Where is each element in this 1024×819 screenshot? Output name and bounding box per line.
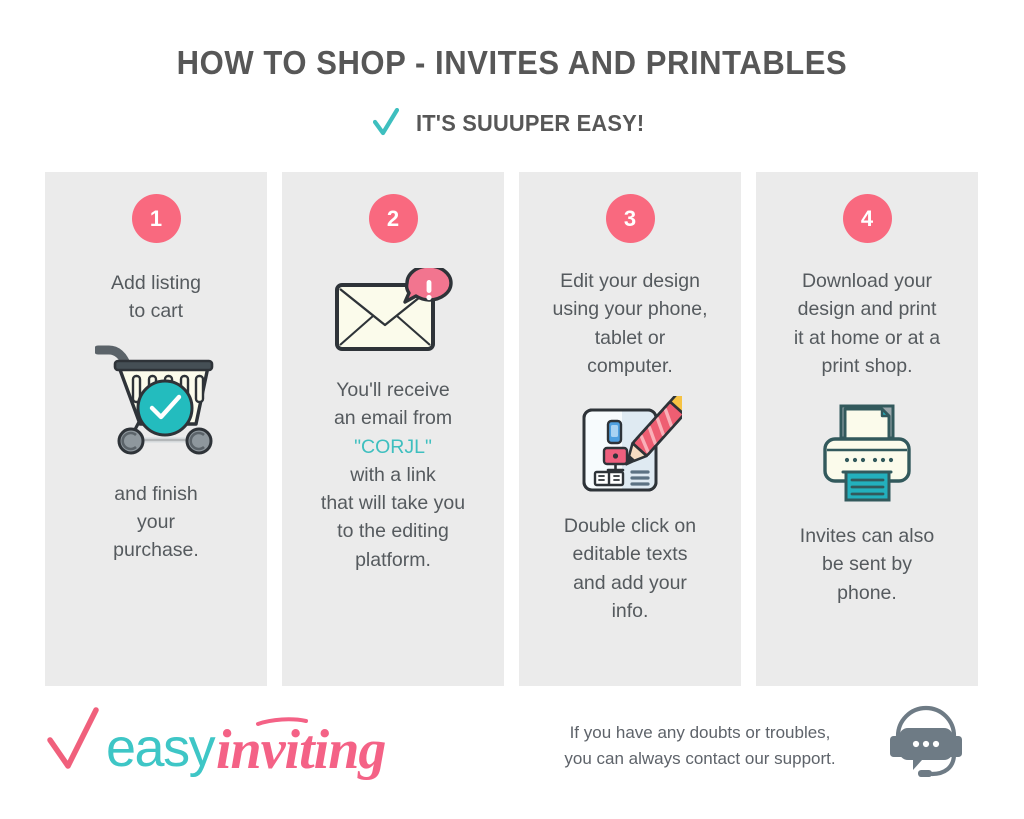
headset-support-icon — [886, 702, 966, 782]
shopping-cart-check-icon — [95, 342, 217, 458]
subtitle-text: IT'S SUUUPER EASY! — [416, 110, 644, 137]
step-number-badge-3: 3 — [606, 194, 655, 243]
step-panel-4: 4 Download your design and print it at h… — [756, 172, 978, 686]
step-4-text-top: Download your design and print it at hom… — [772, 267, 962, 380]
step-1-text-bottom: and finish your purchase. — [61, 480, 251, 565]
step-2-text-bottom: You'll receive an email from "CORJL" wit… — [298, 376, 488, 574]
brand-logo[interactable]: easy inviting — [44, 704, 394, 789]
edit-document-pencil-icon — [578, 396, 682, 496]
header: HOW TO SHOP - INVITES AND PRINTABLES IT'… — [0, 0, 1024, 160]
footer: easy inviting If you have any doubts or … — [0, 690, 1024, 819]
envelope-notification-icon — [333, 268, 453, 354]
step-number-badge-4: 4 — [843, 194, 892, 243]
steps-container: 1 Add listing to cart — [45, 172, 980, 686]
page-title: HOW TO SHOP - INVITES AND PRINTABLES — [31, 44, 994, 82]
step-number-badge-1: 1 — [132, 194, 181, 243]
step-3-text-bottom: Double click on editable texts and add y… — [535, 512, 725, 625]
step-panel-1: 1 Add listing to cart — [45, 172, 267, 686]
step-1-text-top: Add listing to cart — [61, 269, 251, 326]
step-3-icon-box — [519, 396, 741, 496]
step-3-text-top: Edit your design using your phone, table… — [535, 267, 725, 380]
step-2-text-accent: "CORJL" — [354, 436, 432, 458]
step-2-text-prefix: You'll receive an email from — [334, 379, 452, 429]
step-1-icon-box — [45, 342, 267, 458]
step-number-badge-2: 2 — [369, 194, 418, 243]
step-2-text-suffix: with a link that will take you to the ed… — [321, 464, 465, 571]
logo-word-inviting: inviting — [216, 719, 385, 781]
subtitle: IT'S SUUUPER EASY! — [0, 108, 1024, 138]
step-panel-3: 3 Edit your design using your phone, tab… — [519, 172, 741, 686]
step-2-icon-box — [282, 268, 504, 354]
check-icon — [373, 108, 399, 138]
step-4-text-bottom: Invites can also be sent by phone. — [772, 522, 962, 607]
logo-word-easy: easy — [106, 718, 216, 778]
step-4-icon-box — [756, 402, 978, 502]
check-icon — [50, 710, 96, 766]
support-text: If you have any doubts or troubles, you … — [520, 720, 880, 773]
printer-icon — [817, 402, 917, 502]
step-panel-2: 2 You'll receive an email from "CORJL" w… — [282, 172, 504, 686]
